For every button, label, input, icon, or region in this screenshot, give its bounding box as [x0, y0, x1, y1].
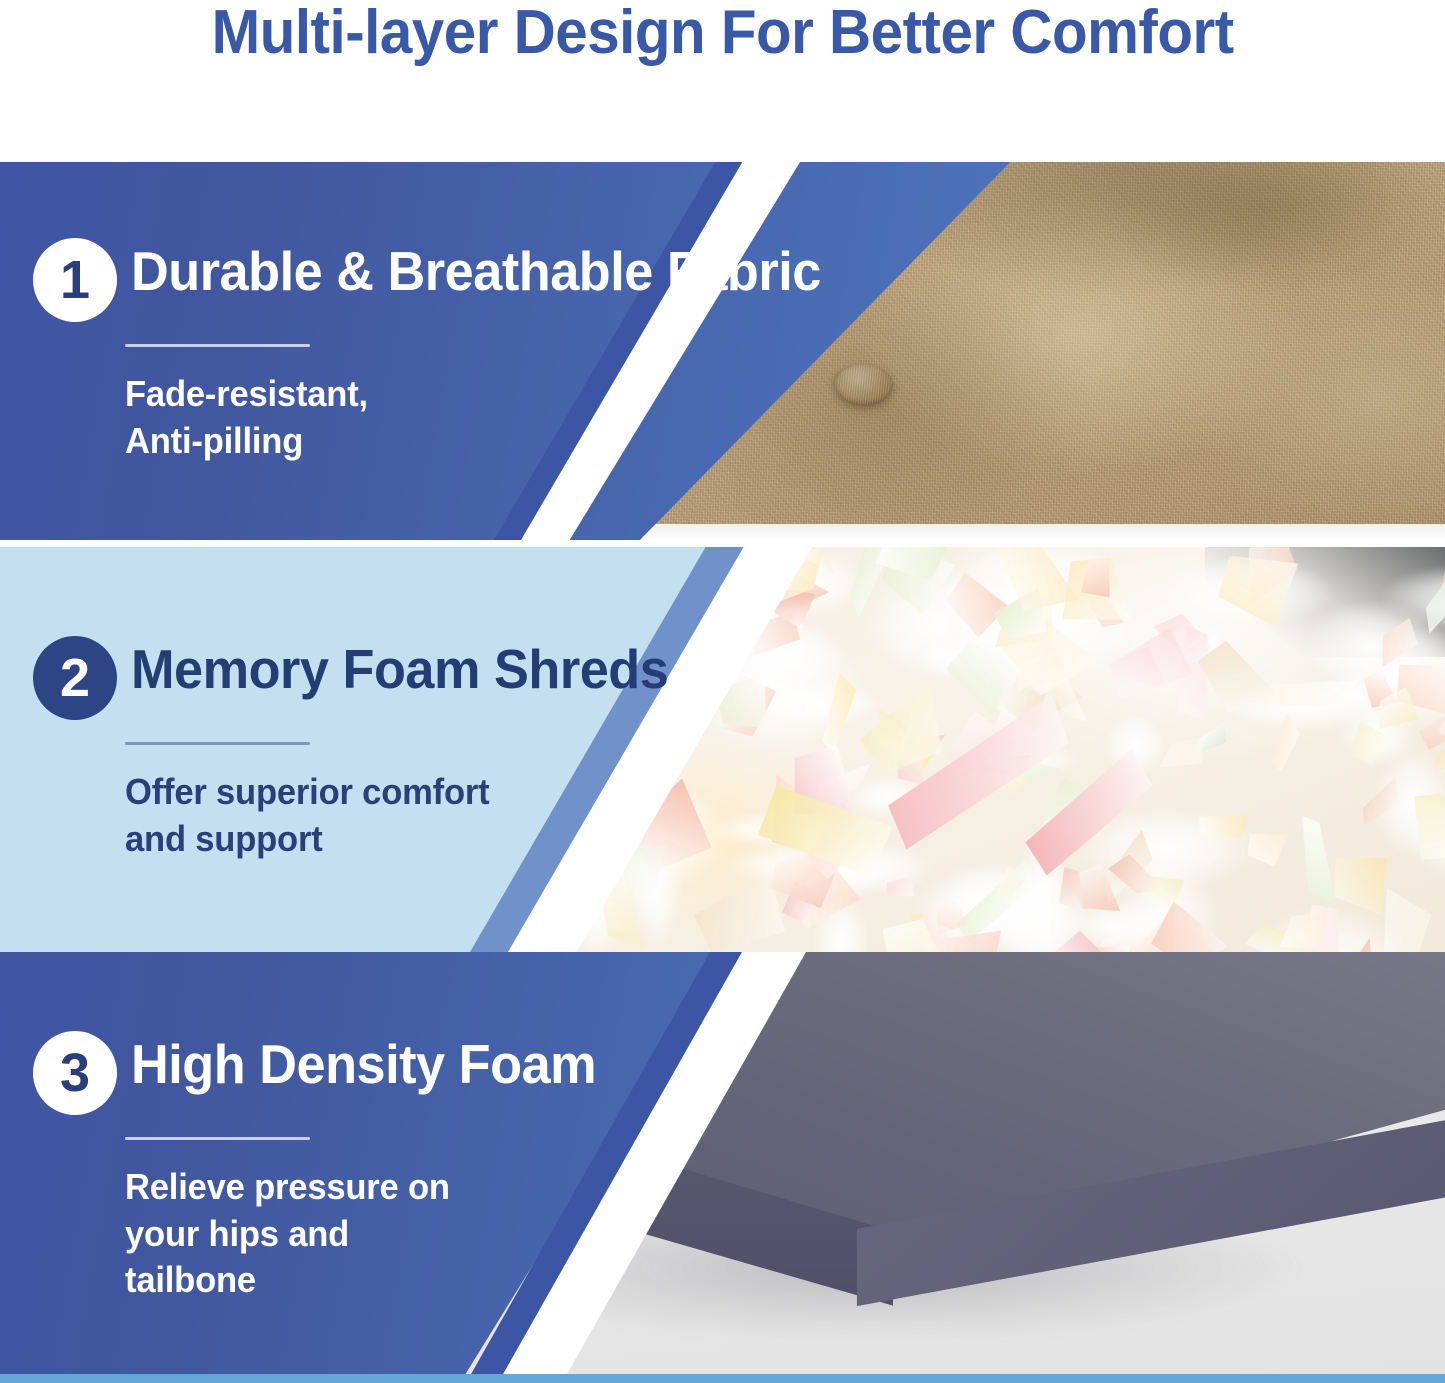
page-title: Multi-layer Design For Better Comfort: [211, 0, 1233, 64]
panel-1-content: 1 Durable & Breathable Fabric Fade-resis…: [0, 162, 857, 540]
panel-3-headline: High Density Foam: [131, 1031, 596, 1093]
panel-2-headline: Memory Foam Shreds: [131, 636, 668, 698]
feature-panel-3: 3 High Density Foam Relieve pressure on …: [0, 952, 1445, 1383]
panel-2-body-text: Offer superior comfort and support: [125, 769, 674, 863]
panel-1-body-text: Fade-resistant, Anti-pilling: [125, 371, 828, 465]
step-number-badge-2: 2: [33, 636, 117, 720]
foam-shred-piece: [1383, 888, 1432, 952]
panel-1-headline: Durable & Breathable Fabric: [131, 238, 821, 300]
panel-3-body-text: Relieve pressure on your hips and tailbo…: [125, 1164, 601, 1304]
panel-3-heading-row: 3 High Density Foam: [33, 1031, 621, 1115]
panel-2-heading-row: 2 Memory Foam Shreds: [33, 636, 697, 720]
panel-2-content: 2 Memory Foam Shreds Offer superior comf…: [0, 547, 697, 952]
feature-panel-2: 2 Memory Foam Shreds Offer superior comf…: [0, 547, 1445, 952]
panel-1-divider-rule: [125, 344, 310, 347]
feature-panel-1: 1 Durable & Breathable Fabric Fade-resis…: [0, 162, 1445, 540]
foam-shred-piece: [1247, 832, 1290, 868]
step-number-badge-3: 3: [33, 1031, 117, 1115]
title-bar: Multi-layer Design For Better Comfort: [0, 0, 1445, 162]
panel-2-divider-rule: [125, 742, 310, 745]
foam-shred-piece: [1293, 812, 1338, 914]
infographic-root: Multi-layer Design For Better Comfort 1 …: [0, 0, 1445, 1383]
panel-3-divider-rule: [125, 1137, 310, 1140]
panel-1-heading-row: 1 Durable & Breathable Fabric: [33, 238, 857, 322]
panel-3-content: 3 High Density Foam Relieve pressure on …: [0, 952, 621, 1383]
panel-gap-1: [0, 540, 1445, 547]
step-number-badge-1: 1: [33, 238, 117, 322]
